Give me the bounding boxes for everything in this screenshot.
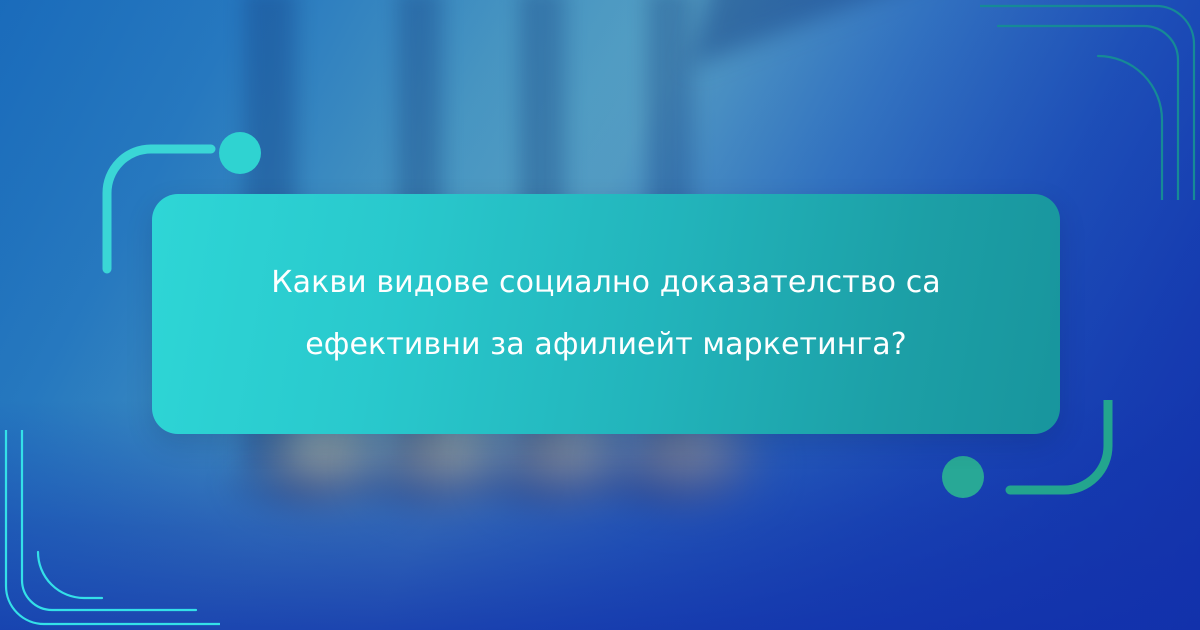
dot-top-left [219, 132, 261, 174]
question-card: Какви видове социално доказателство са е… [152, 194, 1060, 434]
question-title: Какви видове социално доказателство са е… [246, 252, 966, 376]
social-card-canvas: Какви видове социално доказателство са е… [0, 0, 1200, 630]
dot-bottom-right [942, 456, 984, 498]
